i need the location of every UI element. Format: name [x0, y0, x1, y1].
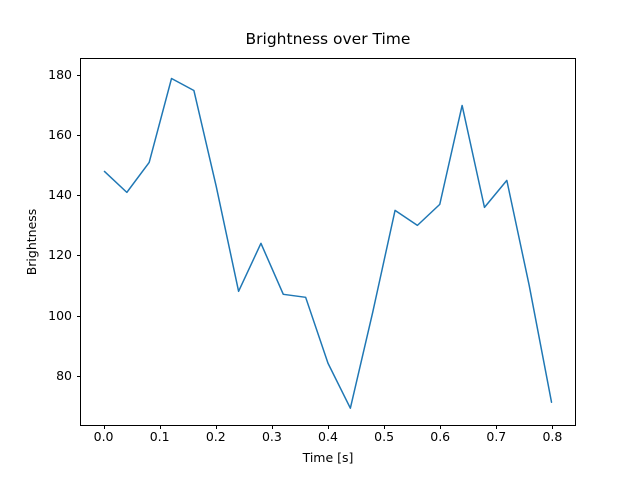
x-tick-label: 0.4 [318, 431, 338, 444]
x-tick-label: 0.7 [486, 431, 506, 444]
chart-title: Brightness over Time [80, 32, 576, 48]
x-tick-label: 0.3 [262, 431, 282, 444]
plot-area [80, 58, 576, 426]
y-tick-label: 160 [40, 129, 72, 142]
y-tick-label: 140 [40, 189, 72, 202]
x-tick-label: 0.5 [374, 431, 394, 444]
line-plot-svg [81, 59, 575, 425]
x-tick-label: 0.1 [150, 431, 170, 444]
x-axis-label: Time [s] [80, 452, 576, 465]
y-tick-label: 80 [40, 370, 72, 383]
chart-figure: Brightness over Time Brightness Time [s]… [0, 0, 640, 480]
x-tick-label: 0.0 [94, 431, 114, 444]
y-tick-label: 120 [40, 249, 72, 262]
x-tick-label: 0.6 [430, 431, 450, 444]
y-tick-label: 100 [40, 309, 72, 322]
y-tick-label: 180 [40, 68, 72, 81]
x-tick-label: 0.2 [206, 431, 226, 444]
y-axis-label: Brightness [26, 58, 39, 426]
brightness-line-series [104, 78, 551, 408]
x-tick-label: 0.8 [542, 431, 562, 444]
